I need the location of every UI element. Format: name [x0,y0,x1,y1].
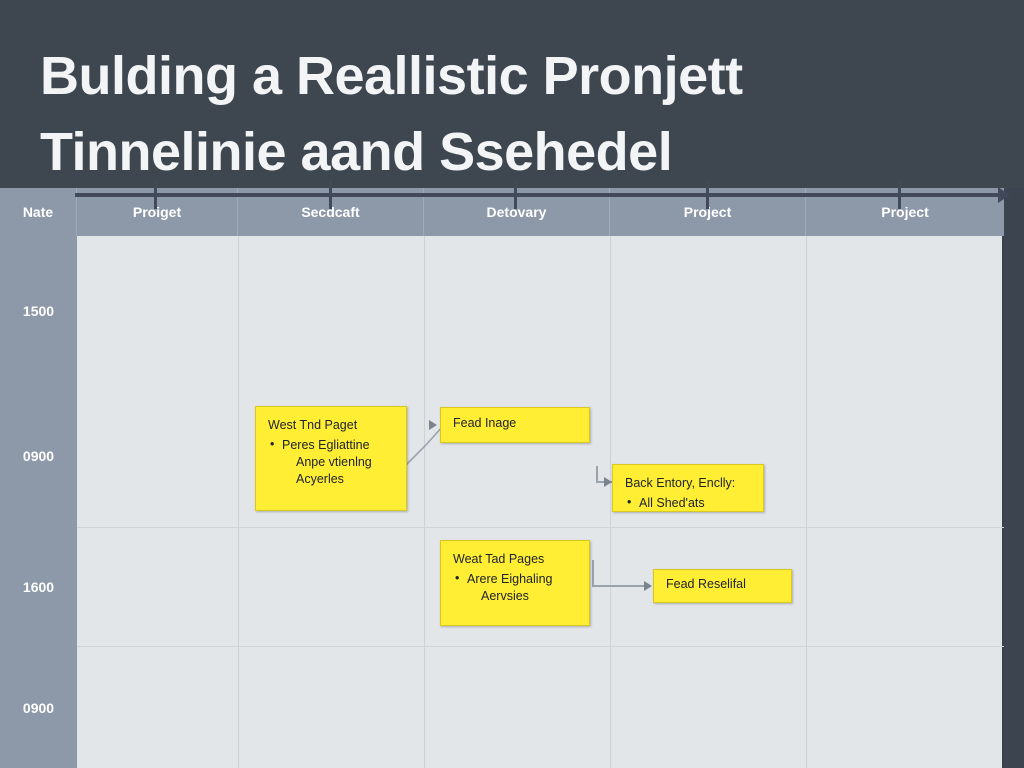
timeline-tick-4[interactable] [706,181,709,209]
note-title: Fead Inage [453,415,516,432]
column-header-nate[interactable]: Nate [0,188,77,236]
title-band: Bulding a Reallistic Pronjett Tinnelinie… [0,0,1024,188]
timeline-board: Nate Proiget Secdcaft Detovary Project P… [0,188,1004,768]
timeline-tick-5[interactable] [898,181,901,209]
timeline-arrow-icon [998,187,1010,203]
connector-stub-back-entory [596,466,598,482]
note-title: Back Entory, Enclly: [625,475,751,492]
row-label-0900-b[interactable]: 0900 [0,648,77,768]
sticky-note-back-entory[interactable]: Back Entory, Enclly: All Shed'ats [612,464,764,512]
sticky-note-fead-reselifal[interactable]: Fead Reselifal [653,569,792,603]
connector-line-weat-tad-to-reselifal [592,585,650,587]
note-bullet-list: All Shed'ats [625,495,751,512]
grid-line-vertical-3 [610,236,611,768]
note-bullet: Peres Egliattine [268,437,394,454]
note-bullet: All Shed'ats [625,495,751,512]
timeline-axis [75,193,1005,197]
timeline-tick-2[interactable] [329,181,332,209]
grid-line-horizontal-1 [77,527,1004,528]
grid-line-vertical-4 [806,236,807,768]
slide-canvas: Bulding a Reallistic Pronjett Tinnelinie… [0,0,1024,768]
connector-stub-weat-tad [592,560,594,586]
connector-arrow-back-entory [604,477,612,487]
row-label-0900-a[interactable]: 0900 [0,386,77,526]
page-title-line-2: Tinnelinie aand Ssehedel [40,114,1024,190]
sticky-note-weat-tad-pages[interactable]: Weat Tad Pages Arere Eighaling Aervsies [440,540,590,626]
connector-arrow-fead-inage [429,420,437,430]
note-bullet-list: Peres Egliattine [268,437,394,454]
row-label-1600[interactable]: 1600 [0,526,77,648]
note-title: Fead Reselifal [666,576,746,593]
grid-line-vertical-2 [424,236,425,768]
grid-line-horizontal-2 [77,646,1004,647]
sticky-note-west-tnd-paget[interactable]: West Tnd Paget Peres Egliattine Anpe vti… [255,406,407,511]
note-bullet-list: Arere Eighaling [453,571,577,588]
grid-line-vertical-1 [238,236,239,768]
note-title: Weat Tad Pages [453,551,577,568]
note-bullet: Arere Eighaling [453,571,577,588]
connector-arrow-fead-reselifal [644,581,652,591]
timeline-tick-3[interactable] [514,181,517,209]
note-bullet-continuation-2: Acyerles [268,471,394,488]
row-label-column: 1500 0900 1600 0900 [0,236,77,768]
note-bullet-continuation-1: Aervsies [453,588,577,605]
note-title: West Tnd Paget [268,417,394,434]
timeline-tick-1[interactable] [154,181,157,209]
note-bullet-continuation-1: Anpe vtienlng [268,454,394,471]
row-label-1500[interactable]: 1500 [0,236,77,386]
sticky-note-fead-inage[interactable]: Fead Inage [440,407,590,443]
page-title-line-1: Bulding a Reallistic Pronjett [40,38,1024,114]
